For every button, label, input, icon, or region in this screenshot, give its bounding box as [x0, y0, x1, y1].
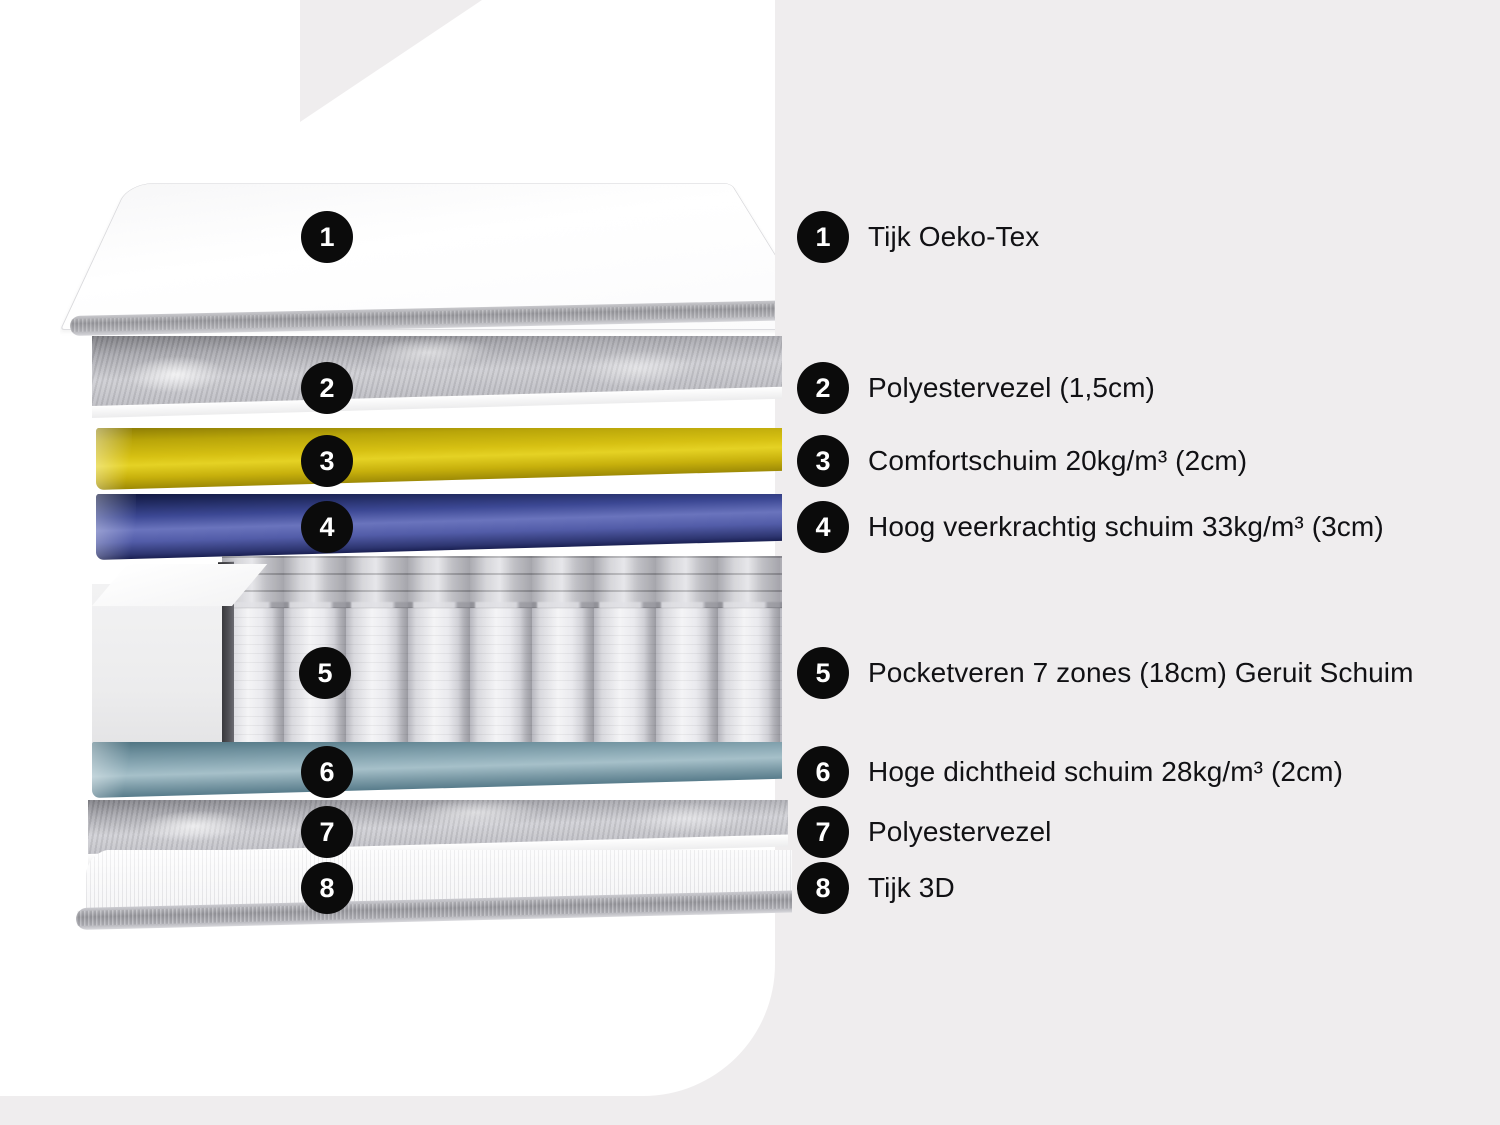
legend-label-6: Hoge dichtheid schuim 28kg/m³ (2cm) [868, 756, 1343, 788]
layer-4-foam-slab [96, 494, 782, 560]
legend-badge-1: 1 [797, 211, 849, 263]
diagram-marker-4: 4 [301, 501, 353, 553]
legend-row-8[interactable]: 8Tijk 3D [797, 862, 955, 914]
legend-badge-6: 6 [797, 746, 849, 798]
legend-label-7: Polyestervezel [868, 816, 1051, 848]
layer-2-polyestervezel [92, 336, 782, 431]
legend-label-8: Tijk 3D [868, 872, 955, 904]
diagram-marker-3: 3 [301, 435, 353, 487]
panel-corner-notch [300, 0, 482, 122]
legend-list: 1Tijk Oeko-Tex2Polyestervezel (1,5cm)3Co… [797, 0, 1487, 1125]
legend-label-4: Hoog veerkrachtig schuim 33kg/m³ (3cm) [868, 511, 1384, 543]
diagram-marker-6: 6 [301, 746, 353, 798]
legend-label-2: Polyestervezel (1,5cm) [868, 372, 1155, 404]
legend-row-7[interactable]: 7Polyestervezel [797, 806, 1051, 858]
foam-edge-side [92, 584, 222, 756]
diagram-marker-1: 1 [301, 211, 353, 263]
legend-label-1: Tijk Oeko-Tex [868, 221, 1039, 253]
diagram-marker-8: 8 [301, 862, 353, 914]
diagram-marker-2: 2 [301, 362, 353, 414]
legend-badge-8: 8 [797, 862, 849, 914]
mattress-layer-diagram: 12345678 1Tijk Oeko-Tex2Polyestervezel (… [0, 0, 1500, 1125]
legend-label-3: Comfortschuim 20kg/m³ (2cm) [868, 445, 1247, 477]
legend-label-5: Pocketveren 7 zones (18cm) Geruit Schuim [868, 657, 1414, 689]
diagram-marker-7: 7 [301, 806, 353, 858]
layer-1-tijk-oeko-tex [60, 118, 775, 353]
legend-row-5[interactable]: 5Pocketveren 7 zones (18cm) Geruit Schui… [797, 647, 1414, 699]
layer-3-foam-slab [96, 428, 782, 490]
legend-badge-7: 7 [797, 806, 849, 858]
legend-badge-4: 4 [797, 501, 849, 553]
layer-6-foam-slab [92, 742, 782, 798]
legend-badge-3: 3 [797, 435, 849, 487]
legend-row-3[interactable]: 3Comfortschuim 20kg/m³ (2cm) [797, 435, 1247, 487]
layer-8-tijk-3d [62, 850, 792, 960]
legend-badge-2: 2 [797, 362, 849, 414]
diagram-marker-5: 5 [299, 647, 351, 699]
legend-badge-5: 5 [797, 647, 849, 699]
legend-row-6[interactable]: 6Hoge dichtheid schuim 28kg/m³ (2cm) [797, 746, 1343, 798]
legend-row-4[interactable]: 4Hoog veerkrachtig schuim 33kg/m³ (3cm) [797, 501, 1384, 553]
legend-row-2[interactable]: 2Polyestervezel (1,5cm) [797, 362, 1155, 414]
legend-row-1[interactable]: 1Tijk Oeko-Tex [797, 211, 1039, 263]
layer-5-pocketveren [92, 556, 782, 756]
